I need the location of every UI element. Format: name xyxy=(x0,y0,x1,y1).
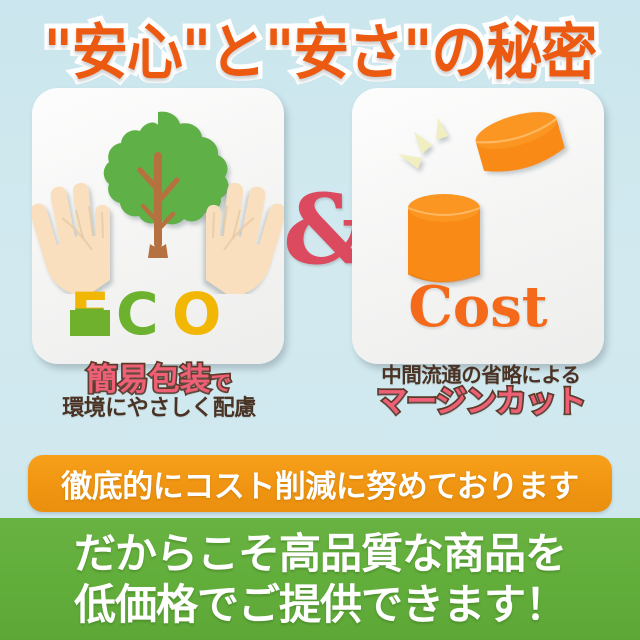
footer-line-1: だからこそ高品質な商品を xyxy=(74,528,566,579)
can-body xyxy=(408,194,480,282)
eco-caption-primary-line: 簡易包装で xyxy=(14,364,304,397)
eco-letter-c: C xyxy=(116,284,159,344)
cost-wordmark-text: Cost xyxy=(408,274,547,340)
cost-caption-highlight: マージンカット xyxy=(336,386,626,419)
footer-line-2: 低価格でご提供できます！ xyxy=(74,579,566,630)
eco-wordmark: E E E E C O xyxy=(32,284,284,348)
page-title-text: "安心"と"安さ"の秘密 xyxy=(44,3,597,90)
cost-reduction-banner: 徹底的にコスト削減に努めております xyxy=(28,455,612,512)
footer-message: だからこそ高品質な商品を 低価格でご提供できます！ xyxy=(0,518,640,640)
eco-caption-primary-suffix: で xyxy=(211,371,232,395)
can-lid xyxy=(472,105,567,180)
promo-banner-canvas: "安心"と"安さ"の秘密 xyxy=(0,0,640,640)
eco-letter-o: O xyxy=(172,284,221,344)
cost-reduction-banner-text: 徹底的にコスト削減に努めております xyxy=(61,461,579,506)
hands-holding-tree-icon xyxy=(32,94,284,294)
eco-card: E E E E C O xyxy=(32,88,284,364)
eco-caption-secondary: 環境にやさしく配慮 xyxy=(14,397,304,421)
cost-card: Cost xyxy=(352,88,604,364)
page-title: "安心"と"安さ"の秘密 xyxy=(0,8,640,86)
open-can-with-lid-icon xyxy=(352,92,604,288)
eco-caption-primary: 簡易包装 xyxy=(87,362,211,398)
cost-caption-top: 中間流通の省略による xyxy=(336,364,626,386)
ampersand-separator: & xyxy=(283,178,357,282)
cost-caption: 中間流通の省略による マージンカット xyxy=(336,364,626,420)
eco-caption: 簡易包装で 環境にやさしく配慮 xyxy=(14,364,304,421)
spark-marks xyxy=(398,118,448,169)
cost-wordmark: Cost xyxy=(352,274,604,344)
